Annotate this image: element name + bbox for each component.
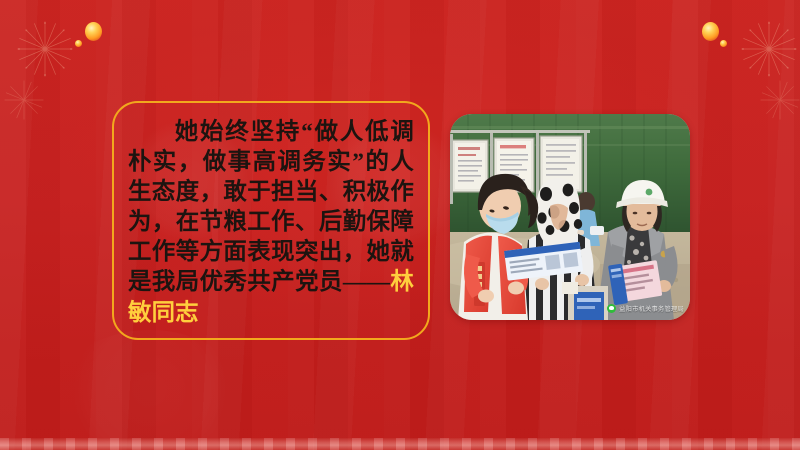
slide-canvas: 她始终坚持“做人低调朴实，做事高调务实”的人生态度，敢于担当、积极作为，在节粮工… (0, 0, 800, 450)
photo-watermark-text: 益阳市机关事务管理局 (619, 304, 684, 313)
photo-watermark: 益阳市机关事务管理局 (607, 304, 684, 313)
wechat-icon (607, 304, 616, 313)
quote-paragraph: 她始终坚持“做人低调朴实，做事高调务实”的人生态度，敢于担当、积极作为，在节粮工… (128, 117, 414, 328)
lantern-orb-left-large-icon (85, 22, 102, 41)
event-photo: 益阳市机关事务管理局 (450, 114, 690, 320)
firework-top-right-small-icon (756, 76, 800, 124)
quote-text-card: 她始终坚持“做人低调朴实，做事高调务实”的人生态度，敢于担当、积极作为，在节粮工… (112, 101, 430, 340)
lantern-orb-right-small-icon (720, 40, 727, 47)
firework-top-left-icon (14, 18, 76, 80)
lantern-orb-right-large-icon (702, 22, 719, 41)
quote-text-main: 她始终坚持“做人低调朴实，做事高调务实”的人生态度，敢于担当、积极作为，在节粮工… (128, 119, 414, 295)
event-photo-illustration (450, 114, 690, 320)
decor-circle-watermark-bottom (60, 330, 240, 450)
firework-top-left-small-icon (0, 76, 48, 124)
stage-bottom-band (0, 438, 800, 450)
lantern-orb-left-small-icon (75, 40, 82, 47)
firework-top-right-icon (738, 18, 800, 80)
